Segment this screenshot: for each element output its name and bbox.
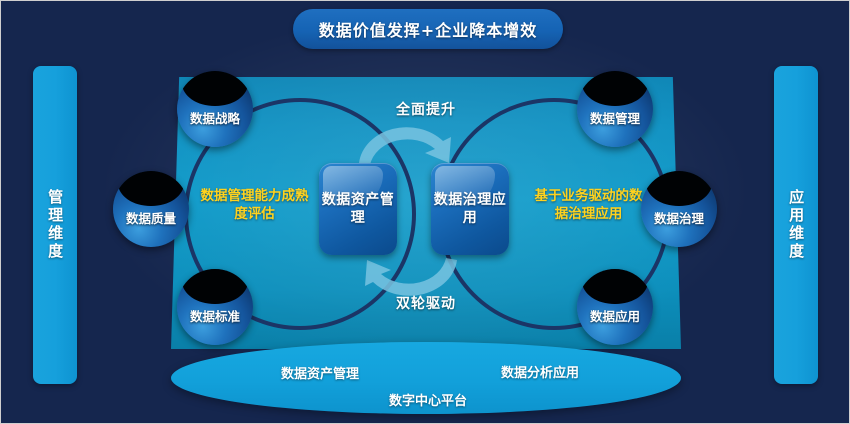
- node-bubble-data-management[interactable]: 数据管理: [577, 71, 653, 147]
- bubble-cap: [182, 269, 247, 304]
- node-bubble-data-quality[interactable]: 数据质量: [113, 171, 189, 247]
- bubble-cap: [582, 71, 647, 106]
- dimension-bar-left: 管理维度: [33, 66, 77, 384]
- center-box-data-asset-management[interactable]: 数据资产管理: [319, 163, 397, 255]
- node-bubble-right-2-label: 数据应用: [590, 306, 640, 325]
- center-box-2-label: 数据治理应用: [431, 191, 509, 228]
- arc-label-top: 全面提升: [366, 99, 486, 119]
- platform-label-center: 数字中心平台: [389, 390, 467, 409]
- bubble-cap: [646, 171, 711, 206]
- dimension-bar-left-label: 管理维度: [46, 189, 64, 261]
- node-bubble-right-0-label: 数据管理: [590, 108, 640, 127]
- banner-title-pill: 数据价值发挥+企业降本增效: [293, 9, 563, 49]
- bubble-cap: [182, 71, 247, 106]
- dimension-bar-right-label: 应用维度: [787, 189, 805, 261]
- node-bubble-data-standard[interactable]: 数据标准: [177, 269, 253, 345]
- platform-label-left: 数据资产管理: [281, 363, 359, 382]
- bubble-cap: [118, 171, 183, 206]
- node-bubble-right-1-label: 数据治理: [654, 208, 704, 227]
- node-bubble-data-governance[interactable]: 数据治理: [641, 171, 717, 247]
- node-bubble-left-1-label: 数据质量: [126, 208, 176, 227]
- caption-left: 数据管理能力成熟度评估: [197, 187, 312, 223]
- node-bubble-data-application[interactable]: 数据应用: [577, 269, 653, 345]
- center-box-1-label: 数据资产管理: [319, 191, 397, 228]
- diagram-canvas: 数据价值发挥+企业降本增效 管理维度 应用维度 数据管理能力成熟度评估 基于业务…: [0, 0, 850, 424]
- node-bubble-left-0-label: 数据战略: [190, 108, 240, 127]
- center-box-data-governance-application[interactable]: 数据治理应用: [431, 163, 509, 255]
- platform-label-right: 数据分析应用: [501, 362, 579, 381]
- bubble-cap: [582, 269, 647, 304]
- node-bubble-data-strategy[interactable]: 数据战略: [177, 71, 253, 147]
- dimension-bar-right: 应用维度: [774, 66, 818, 384]
- node-bubble-left-2-label: 数据标准: [190, 306, 240, 325]
- banner-title-text: 数据价值发挥+企业降本增效: [319, 17, 537, 41]
- arc-label-bottom: 双轮驱动: [366, 293, 486, 313]
- caption-right: 基于业务驱动的数据治理应用: [531, 187, 646, 223]
